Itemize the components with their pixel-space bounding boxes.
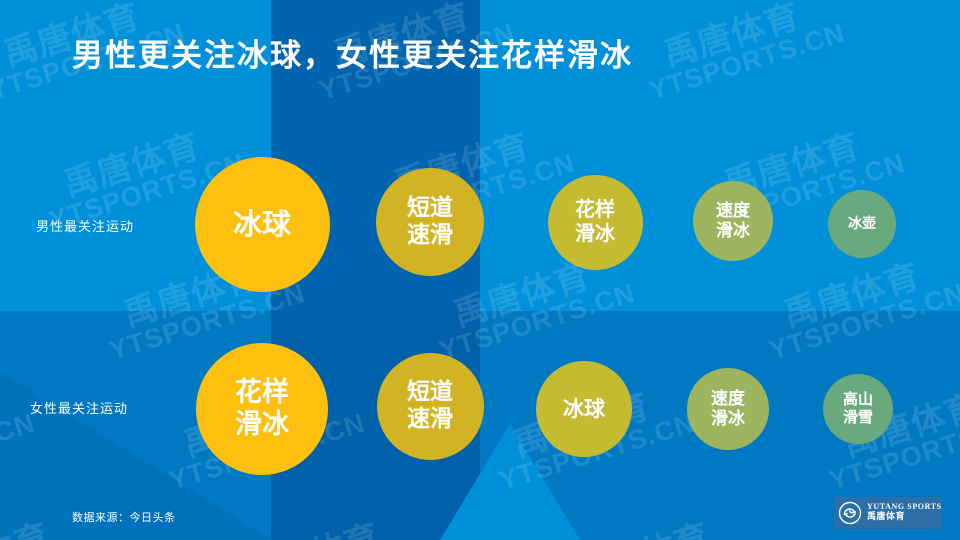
logo-wordmark: YUTANG SPORTS 禹唐体育 — [867, 503, 942, 522]
infographic-slide: 禹唐体育YTSPORTS.CN禹唐体育YTSPORTS.CN禹唐体育YTSPOR… — [0, 0, 960, 540]
bubble-row1-rank5[interactable]: 冰壶 — [828, 190, 896, 258]
row-label-2: 女性最关注运动 — [30, 398, 128, 417]
bubble-row2-rank2[interactable]: 短道 速滑 — [377, 353, 484, 460]
row-label-1: 男性最关注运动 — [36, 216, 134, 235]
bubble-row1-rank1[interactable]: 冰球 — [195, 157, 330, 292]
bubble-row1-rank4[interactable]: 速度 滑冰 — [693, 181, 773, 261]
yutang-emblem-icon — [838, 501, 862, 525]
bubble-row1-rank2[interactable]: 短道 速滑 — [376, 168, 484, 276]
background-graphics — [0, 0, 960, 540]
bubble-row2-rank4[interactable]: 速度 滑冰 — [687, 368, 769, 450]
brand-logo: YUTANG SPORTS 禹唐体育 — [834, 497, 942, 529]
bubble-row2-rank5[interactable]: 高山 滑雪 — [823, 374, 893, 444]
bubble-row2-rank3[interactable]: 冰球 — [536, 361, 632, 457]
data-source-note: 数据来源：今日头条 — [72, 509, 176, 525]
bubble-row2-rank1[interactable]: 花样 滑冰 — [196, 343, 328, 475]
bubble-row1-rank3[interactable]: 花样 滑冰 — [548, 175, 643, 270]
logo-chinese: 禹唐体育 — [867, 512, 942, 522]
page-title: 男性更关注冰球，女性更关注花样滑冰 — [72, 30, 633, 75]
